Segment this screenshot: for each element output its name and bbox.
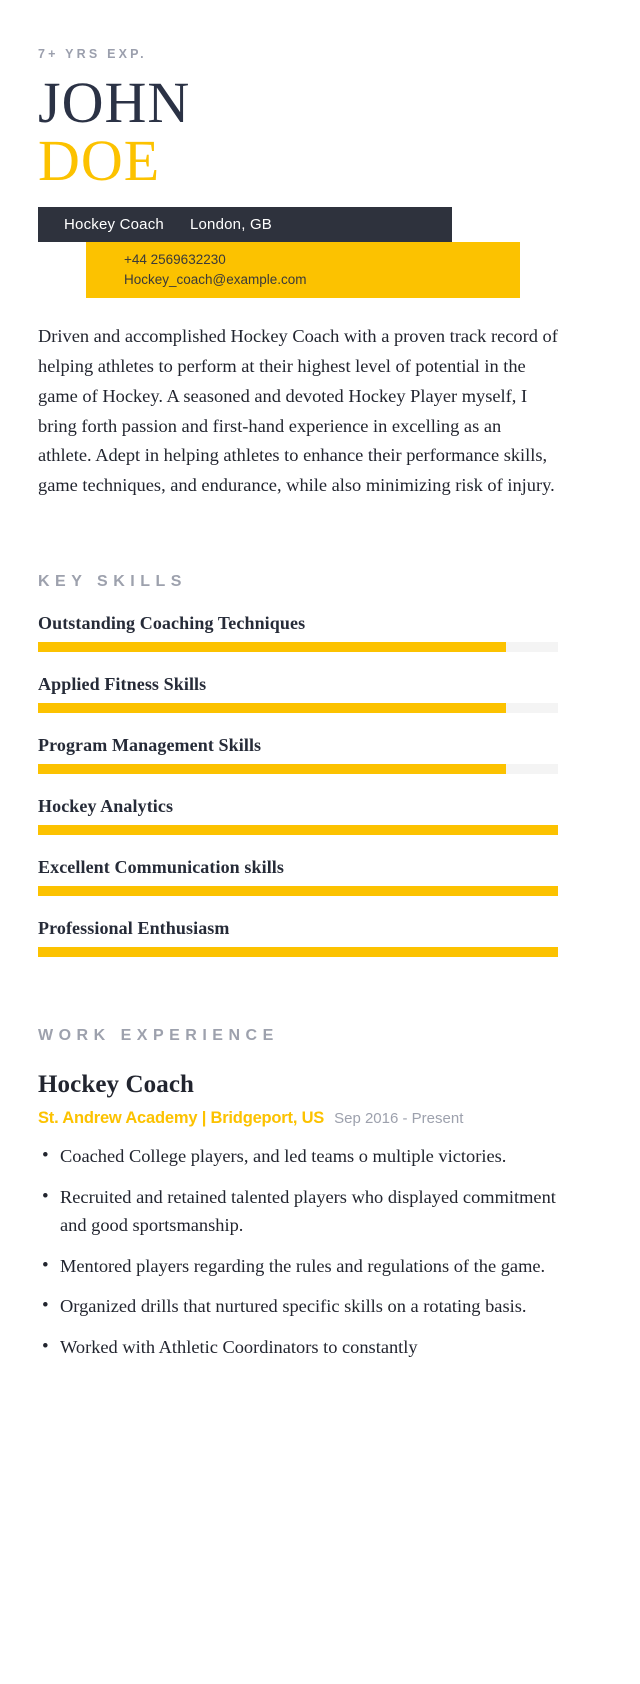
work-experience-heading: WORK EXPERIENCE	[38, 1027, 602, 1045]
skill-bar-fill	[38, 825, 558, 835]
job-bullet: Recruited and retained talented players …	[38, 1183, 558, 1240]
email-text[interactable]: Hockey_coach@example.com	[124, 270, 520, 290]
contact-bar: +44 2569632230 Hockey_coach@example.com	[86, 242, 520, 298]
role-location-bar: Hockey Coach London, GB	[38, 207, 452, 242]
resume-page: 7+ YRS EXP. JOHN DOE Hockey Coach London…	[0, 0, 640, 1684]
skill-bar-fill	[38, 703, 506, 713]
job-bullet: Worked with Athletic Coordinators to con…	[38, 1333, 558, 1362]
candidate-name: JOHN DOE	[38, 75, 602, 190]
job-title: Hockey Coach	[38, 1071, 602, 1099]
work-experience-section: WORK EXPERIENCE Hockey Coach St. Andrew …	[38, 1027, 602, 1361]
job-bullet: Coached College players, and led teams o…	[38, 1142, 558, 1171]
skill-label: Applied Fitness Skills	[38, 674, 602, 695]
skill-item: Professional Enthusiasm	[38, 918, 602, 957]
phone-text[interactable]: +44 2569632230	[124, 250, 520, 270]
skill-label: Outstanding Coaching Techniques	[38, 613, 602, 634]
job-meta: St. Andrew Academy | Bridgeport, US Sep …	[38, 1109, 602, 1128]
skill-item: Outstanding Coaching Techniques	[38, 613, 602, 652]
skill-bar-track	[38, 947, 558, 957]
skill-bar-track	[38, 703, 558, 713]
experience-eyebrow: 7+ YRS EXP.	[38, 0, 602, 61]
last-name: DOE	[38, 133, 602, 189]
skill-bar-fill	[38, 947, 558, 957]
skill-item: Excellent Communication skills	[38, 857, 602, 896]
job-company: St. Andrew Academy | Bridgeport, US	[38, 1109, 324, 1128]
location-label: London, GB	[190, 216, 272, 233]
skill-item: Applied Fitness Skills	[38, 674, 602, 713]
skill-bar-fill	[38, 642, 506, 652]
job-dates: Sep 2016 - Present	[334, 1110, 463, 1127]
job-bullet-list: Coached College players, and led teams o…	[38, 1142, 558, 1361]
skill-label: Professional Enthusiasm	[38, 918, 602, 939]
key-skills-section: KEY SKILLS Outstanding Coaching Techniqu…	[38, 573, 602, 957]
skill-bar-fill	[38, 886, 558, 896]
first-name: JOHN	[38, 75, 602, 131]
skill-label: Program Management Skills	[38, 735, 602, 756]
skill-item: Hockey Analytics	[38, 796, 602, 835]
job-bullet: Mentored players regarding the rules and…	[38, 1252, 558, 1281]
key-skills-heading: KEY SKILLS	[38, 573, 602, 591]
role-label: Hockey Coach	[64, 216, 164, 233]
professional-summary: Driven and accomplished Hockey Coach wit…	[38, 322, 558, 501]
skill-bar-track	[38, 764, 558, 774]
skill-label: Hockey Analytics	[38, 796, 602, 817]
skill-bar-track	[38, 642, 558, 652]
skill-item: Program Management Skills	[38, 735, 602, 774]
job-bullet: Organized drills that nurtured specific …	[38, 1292, 558, 1321]
skill-label: Excellent Communication skills	[38, 857, 602, 878]
skill-bar-track	[38, 825, 558, 835]
skill-bar-track	[38, 886, 558, 896]
skill-bar-fill	[38, 764, 506, 774]
job-entry: Hockey Coach St. Andrew Academy | Bridge…	[38, 1071, 602, 1361]
